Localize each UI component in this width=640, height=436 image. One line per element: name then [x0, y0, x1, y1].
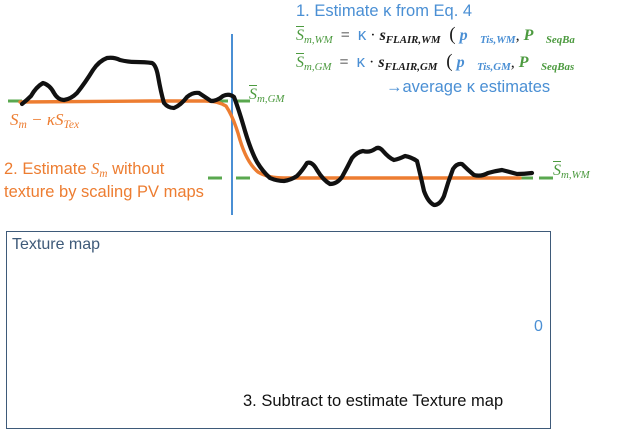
- step2-line2: texture by scaling PV maps: [4, 182, 204, 202]
- step2-prefix: 2. Estimate: [4, 160, 91, 178]
- texture-map-title: Texture map: [12, 236, 100, 254]
- step1-heading: 1. Estimate κ from Eq. 4: [296, 2, 472, 21]
- orange-curve-label: Sm − κSTex: [10, 110, 79, 131]
- step3-caption: 3. Subtract to estimate Texture map: [243, 392, 503, 411]
- step2-line1: 2. Estimate Sm without: [4, 159, 164, 184]
- equation-sm-wm: Sm,WM = κ · sFLAIR,WM ( p⃗Tis,WM, P⃗SeqB…: [296, 24, 575, 46]
- symbol-sm: Sm: [91, 159, 107, 178]
- equation-sm-gm: Sm,GM = κ · sFLAIR,GM ( p⃗Tis,GM, P⃗SeqB…: [296, 51, 574, 73]
- step2-suffix: without: [107, 160, 164, 178]
- figure-root: Texture map 0 3. Subtract to estimate Te…: [0, 0, 640, 436]
- label-sm-gm: Sm,GM: [249, 86, 285, 105]
- label-sm-wm: Sm,WM: [553, 162, 590, 181]
- zero-axis-label: 0: [534, 318, 543, 336]
- step1-note: →average κ estimates: [386, 78, 550, 97]
